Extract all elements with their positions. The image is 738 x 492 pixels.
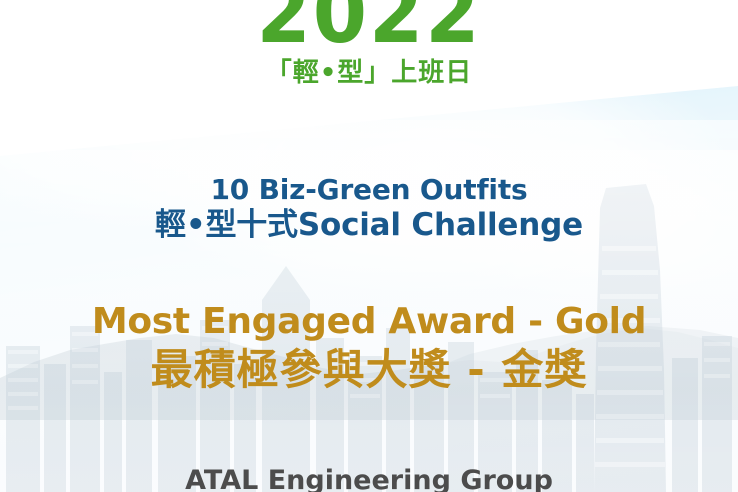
award-heading-block: Most Engaged Award - Gold 最積極參與大獎 - 金獎 [0,300,738,397]
challenge-title-chinese: 輕•型十式Social Challenge [0,205,738,247]
organisation-name: ATAL Engineering Group [0,466,738,492]
award-poster: 2022 「輕•型」上班日 10 Biz-Green Outfits 輕•型十式… [0,0,738,492]
year-subtitle: 「輕•型」上班日 [0,60,738,86]
year-heading: 2022 [0,0,738,56]
header-text-block: 2022 「輕•型」上班日 [0,0,738,86]
award-title-chinese: 最積極參與大獎 - 金獎 [0,343,738,397]
award-title-english: Most Engaged Award - Gold [0,300,738,343]
challenge-heading-block: 10 Biz-Green Outfits 輕•型十式Social Challen… [0,174,738,247]
challenge-title-english: 10 Biz-Green Outfits [0,174,738,205]
